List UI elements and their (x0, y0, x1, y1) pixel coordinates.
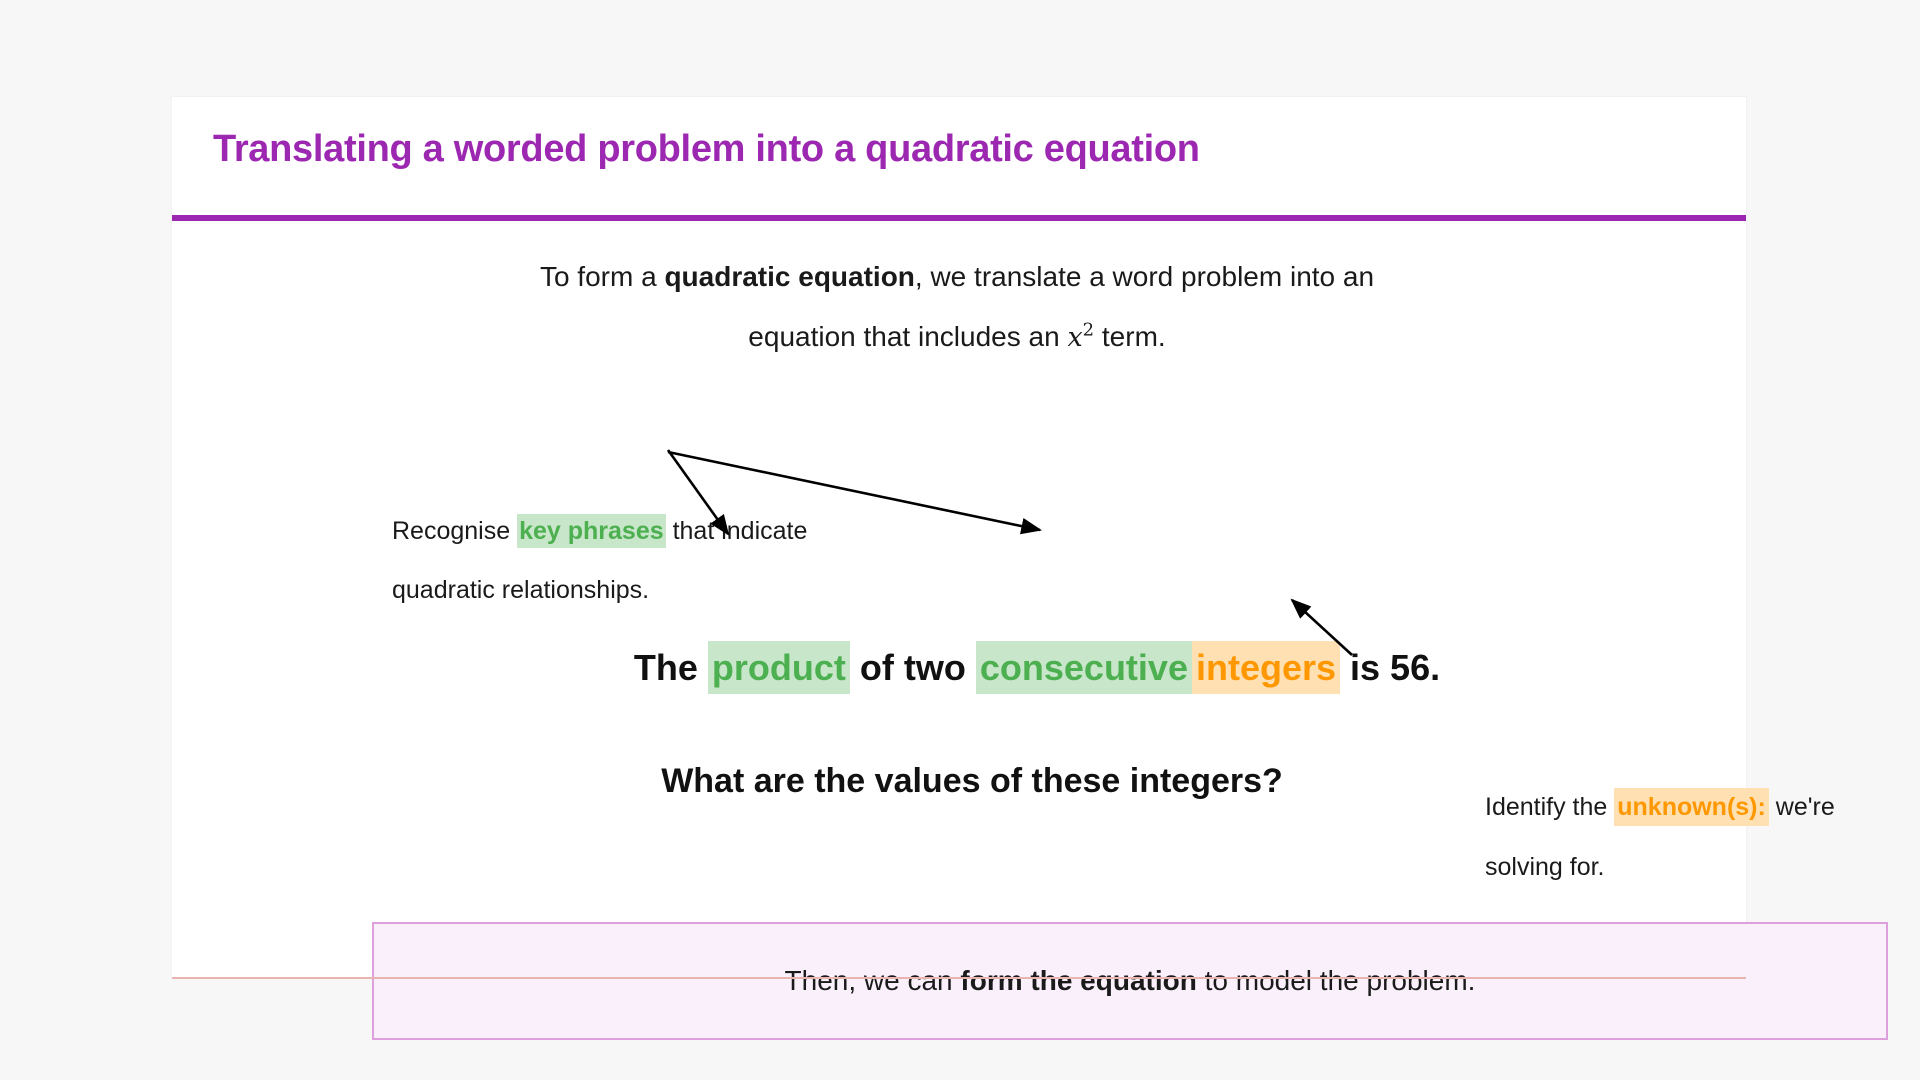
intro-paragraph: To form a quadratic equation, we transla… (352, 247, 1562, 368)
highlight-product: product (708, 641, 850, 694)
note-left-prefix: Recognise (392, 517, 517, 545)
problem-word-is-56: is 56. (1340, 647, 1440, 688)
math-variable-x: x (1067, 322, 1082, 353)
callout-prefix: Then, we can (785, 965, 961, 996)
callout-suffix: to model the problem. (1197, 965, 1476, 996)
note-right-prefix: Identify the (1485, 793, 1614, 821)
intro-line2-prefix: equation that includes an (748, 321, 1067, 352)
problem-statement: The product of two consecutiveintegers i… (472, 642, 1602, 694)
callout-bold-term: form the equation (960, 965, 1196, 996)
highlight-integers: integers (1192, 641, 1340, 694)
content-card: Translating a worded problem into a quad… (172, 97, 1746, 977)
problem-question: What are the values of these integers? (472, 762, 1472, 801)
math-exponent-2: 2 (1083, 320, 1094, 341)
title-divider-rule (172, 215, 1746, 221)
card-bottom-edge (172, 977, 1746, 979)
callout-text: Then, we can form the equation to model … (785, 965, 1476, 997)
highlight-consecutive: consecutive (976, 641, 1192, 694)
intro-bold-term: quadratic equation (664, 261, 914, 292)
highlight-key-phrases: key phrases (517, 514, 666, 548)
slide-canvas: Translating a worded problem into a quad… (0, 0, 1920, 1080)
intro-line1-suffix: , we translate a word problem into an (915, 261, 1374, 292)
problem-word-the: The (634, 647, 708, 688)
page-title: Translating a worded problem into a quad… (213, 128, 1693, 171)
annotation-key-phrases: Recognise key phrases that indicate quad… (392, 502, 892, 620)
annotation-unknowns: Identify the unknown(s): we're solving f… (1485, 777, 1905, 897)
intro-line2-suffix: term. (1094, 321, 1166, 352)
callout-box: Then, we can form the equation to model … (372, 922, 1888, 1040)
intro-line1-prefix: To form a (540, 261, 664, 292)
highlight-unknowns: unknown(s): (1614, 788, 1769, 826)
problem-word-of-two: of two (850, 647, 976, 688)
